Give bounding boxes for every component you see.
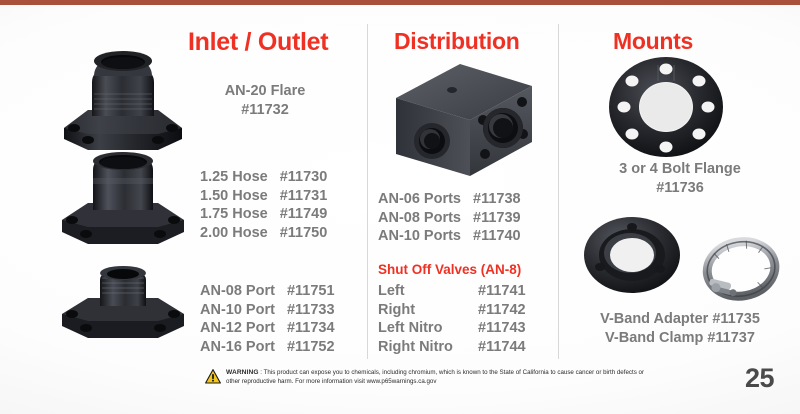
warning-label: WARNING bbox=[226, 369, 259, 376]
product-image-an-port-fitting bbox=[48, 262, 198, 358]
table-body: 1.25 Hose #11730 1.50 Hose #11731 1.75 H… bbox=[200, 168, 327, 242]
caption-line: V-Band Clamp #11737 bbox=[560, 329, 800, 348]
cell-part: #11744 bbox=[466, 338, 526, 357]
table-row: 1.25 Hose #11730 bbox=[200, 168, 327, 187]
table-body: AN-06 Ports #11738 AN-08 Ports #11739 AN… bbox=[378, 190, 521, 246]
cell-label: 1.75 Hose bbox=[200, 205, 268, 224]
cell-label: AN-12 Port bbox=[200, 319, 275, 338]
cell-label: AN-10 Ports bbox=[378, 227, 461, 246]
table-row: Right Nitro #11744 bbox=[378, 338, 526, 357]
table-row: AN-12 Port #11734 bbox=[200, 319, 335, 338]
warning-text: WARNING : This product can expose you to… bbox=[226, 368, 645, 386]
table-shut-off-valves: Left #11741 Right #11742 Left Nitro #117… bbox=[378, 282, 526, 356]
product-image-distribution-block bbox=[382, 58, 542, 183]
cell-part: #11742 bbox=[466, 301, 526, 320]
table-row: AN-10 Ports #11740 bbox=[378, 227, 521, 246]
warning-triangle-icon bbox=[205, 369, 221, 384]
cell-part: #11739 bbox=[461, 209, 521, 228]
caption-bolt-flange: 3 or 4 Bolt Flange #11736 bbox=[565, 160, 795, 198]
table-body: AN-08 Port #11751 AN-10 Port #11733 AN-1… bbox=[200, 282, 335, 356]
table-row: AN-10 Port #11733 bbox=[200, 301, 335, 320]
cell-part: #11731 bbox=[268, 187, 328, 206]
cell-part: #11740 bbox=[461, 227, 521, 246]
top-accent-bar bbox=[0, 0, 800, 5]
table-hose-adapters: 1.25 Hose #11730 1.50 Hose #11731 1.75 H… bbox=[200, 168, 327, 242]
table-row: AN-08 Port #11751 bbox=[200, 282, 335, 301]
table-row: AN-16 Port #11752 bbox=[200, 338, 335, 357]
caption-line: #11736 bbox=[565, 179, 795, 198]
cell-part: #11749 bbox=[268, 205, 328, 224]
cell-part: #11733 bbox=[275, 301, 335, 320]
product-image-an20-flare bbox=[48, 42, 198, 157]
cell-part: #11743 bbox=[466, 319, 526, 338]
caption-line: V-Band Adapter #11735 bbox=[560, 310, 800, 329]
cell-label: 1.25 Hose bbox=[200, 168, 268, 187]
column-divider-1 bbox=[367, 24, 368, 359]
table-row: AN-06 Ports #11738 bbox=[378, 190, 521, 209]
caption-v-band: V-Band Adapter #11735 V-Band Clamp #1173… bbox=[560, 310, 800, 348]
table-row: 1.50 Hose #11731 bbox=[200, 187, 327, 206]
cell-label: AN-08 Port bbox=[200, 282, 275, 301]
table-distribution-ports: AN-06 Ports #11738 AN-08 Ports #11739 AN… bbox=[378, 190, 521, 246]
cell-label: AN-06 Ports bbox=[378, 190, 461, 209]
cell-part: #11734 bbox=[275, 319, 335, 338]
cell-label: Left bbox=[378, 282, 466, 301]
page-number: 25 bbox=[745, 363, 774, 394]
cell-part: #11752 bbox=[275, 338, 335, 357]
table-row: Left #11741 bbox=[378, 282, 526, 301]
table-row: 2.00 Hose #11750 bbox=[200, 224, 327, 243]
warning-line-1: This product can expose you to chemicals… bbox=[264, 369, 556, 376]
cell-label: 1.50 Hose bbox=[200, 187, 268, 206]
cell-label: AN-10 Port bbox=[200, 301, 275, 320]
prop65-warning: WARNING : This product can expose you to… bbox=[205, 368, 645, 386]
table-body: Left #11741 Right #11742 Left Nitro #117… bbox=[378, 282, 526, 356]
cell-part: #11751 bbox=[275, 282, 335, 301]
caption-an20-flare: AN-20 Flare #11732 bbox=[180, 82, 350, 120]
cell-label: AN-16 Port bbox=[200, 338, 275, 357]
heading-inlet-outlet: Inlet / Outlet bbox=[188, 28, 328, 57]
heading-mounts: Mounts bbox=[613, 28, 693, 55]
table-row: Left Nitro #11743 bbox=[378, 319, 526, 338]
table-an-ports: AN-08 Port #11751 AN-10 Port #11733 AN-1… bbox=[200, 282, 335, 356]
table-row: AN-08 Ports #11739 bbox=[378, 209, 521, 228]
table-row: Right #11742 bbox=[378, 301, 526, 320]
cell-label: Right bbox=[378, 301, 466, 320]
caption-line: AN-20 Flare bbox=[180, 82, 350, 101]
catalog-page: Inlet / Outlet bbox=[0, 0, 800, 414]
cell-part: #11741 bbox=[466, 282, 526, 301]
cell-label: 2.00 Hose bbox=[200, 224, 268, 243]
cell-label: AN-08 Ports bbox=[378, 209, 461, 228]
cell-label: Left Nitro bbox=[378, 319, 466, 338]
cell-part: #11738 bbox=[461, 190, 521, 209]
heading-distribution: Distribution bbox=[394, 28, 519, 55]
product-image-hose-adapter bbox=[48, 148, 198, 258]
cell-label: Right Nitro bbox=[378, 338, 466, 357]
caption-line: #11732 bbox=[180, 101, 350, 120]
product-image-bolt-flange bbox=[602, 55, 730, 160]
subheading-shut-off-valves: Shut Off Valves (AN-8) bbox=[378, 262, 521, 277]
column-divider-2 bbox=[558, 24, 559, 359]
caption-line: 3 or 4 Bolt Flange bbox=[565, 160, 795, 179]
cell-part: #11750 bbox=[268, 224, 328, 243]
product-image-v-band-adapter-and-clamp bbox=[580, 207, 800, 307]
cell-part: #11730 bbox=[268, 168, 328, 187]
table-row: 1.75 Hose #11749 bbox=[200, 205, 327, 224]
